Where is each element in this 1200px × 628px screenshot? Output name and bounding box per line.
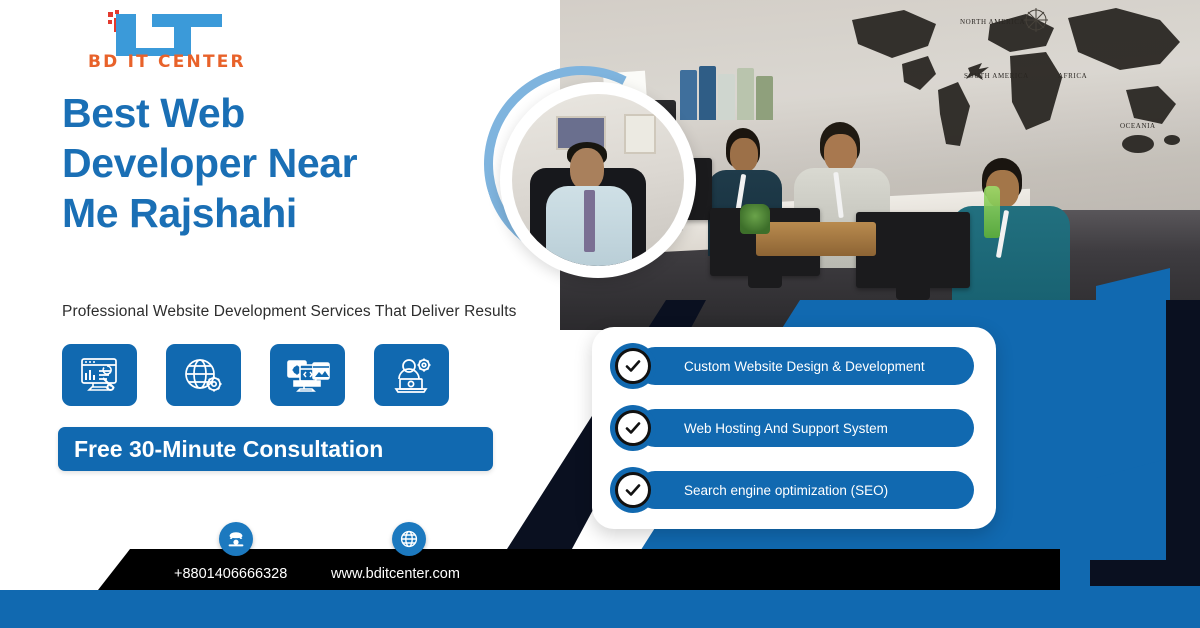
features-card: Custom Website Design & Development Web … bbox=[592, 327, 996, 529]
person-laptop-gear-icon[interactable] bbox=[374, 344, 449, 406]
map-label-north-america: NORTH AMERICA bbox=[960, 18, 1025, 26]
water-bottle bbox=[984, 186, 1000, 238]
bottom-blue-band bbox=[0, 590, 1200, 628]
marketing-banner: NORTH AMERICA SOUTH AMERICA AFRICA OCEAN… bbox=[0, 0, 1200, 628]
headline-line-1: Best Web bbox=[62, 88, 522, 138]
globe-icon[interactable] bbox=[392, 522, 426, 556]
footer-phone[interactable]: +8801406666328 bbox=[174, 566, 287, 582]
web-design-screens-icon[interactable] bbox=[270, 344, 345, 406]
feature-label: Custom Website Design & Development bbox=[636, 347, 974, 385]
headline-line-3: Me Rajshahi bbox=[62, 188, 522, 238]
subtitle: Professional Website Development Service… bbox=[62, 303, 582, 321]
map-label-south-america: SOUTH AMERICA bbox=[964, 72, 1029, 80]
portrait-head bbox=[570, 148, 604, 190]
footer-bar bbox=[0, 549, 1060, 590]
page-title: Best Web Developer Near Me Rajshahi bbox=[62, 88, 522, 238]
cta-button[interactable]: Free 30-Minute Consultation bbox=[58, 427, 493, 471]
feature-item[interactable]: Web Hosting And Support System bbox=[608, 403, 980, 453]
check-circle-icon bbox=[610, 467, 656, 513]
potted-plant bbox=[740, 204, 770, 234]
logo-wordmark: BD IT CENTER bbox=[88, 52, 278, 72]
telephone-icon[interactable] bbox=[219, 522, 253, 556]
monitor-analytics-wrench-icon[interactable] bbox=[62, 344, 137, 406]
map-label-oceania: OCEANIA bbox=[1120, 122, 1156, 130]
globe-gear-icon[interactable] bbox=[166, 344, 241, 406]
map-label-africa: AFRICA bbox=[1058, 72, 1087, 80]
binder-shelf bbox=[680, 62, 790, 120]
feature-label: Search engine optimization (SEO) bbox=[636, 471, 974, 509]
snack-tray bbox=[756, 222, 876, 256]
wall-certificate bbox=[624, 114, 656, 154]
footer-website[interactable]: www.bditcenter.com bbox=[331, 566, 460, 582]
portrait-tie bbox=[584, 190, 595, 252]
feature-item[interactable]: Search engine optimization (SEO) bbox=[608, 465, 980, 515]
lt-monogram-icon bbox=[106, 10, 256, 56]
service-icon-row bbox=[62, 344, 449, 406]
feature-label: Web Hosting And Support System bbox=[636, 409, 974, 447]
check-circle-icon bbox=[610, 343, 656, 389]
headline-line-2: Developer Near bbox=[62, 138, 522, 188]
feature-item[interactable]: Custom Website Design & Development bbox=[608, 341, 980, 391]
portrait-photo bbox=[512, 94, 684, 266]
check-circle-icon bbox=[610, 405, 656, 451]
company-logo[interactable]: BD IT CENTER bbox=[88, 6, 278, 78]
